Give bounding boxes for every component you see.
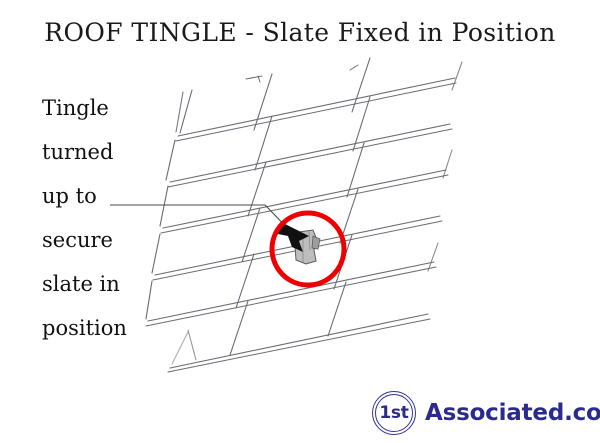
logo-badge-icon: 1st xyxy=(372,391,416,435)
highlight-circle xyxy=(272,213,344,285)
page-title: ROOF TINGLE - Slate Fixed in Position xyxy=(0,18,600,47)
logo-badge-text: 1st xyxy=(372,391,416,435)
tingle-clip xyxy=(295,230,320,264)
caption-line-4: secure xyxy=(42,218,172,262)
logo-wordmark: Associated.co.uk xyxy=(425,400,600,426)
caption-block: Tingle turned up to secure slate in posi… xyxy=(42,86,172,350)
pointer-arrow-icon xyxy=(278,222,309,252)
slate-courses xyxy=(146,58,462,372)
caption-line-1: Tingle xyxy=(42,86,172,130)
caption-line-5: slate in xyxy=(42,262,172,306)
slide-canvas: ROOF TINGLE - Slate Fixed in Position xyxy=(0,0,600,443)
caption-line-2: turned xyxy=(42,130,172,174)
caption-line-6: position xyxy=(42,306,172,350)
brand-logo[interactable]: 1st Associated.co.uk © xyxy=(372,389,594,437)
caption-line-3: up to xyxy=(42,174,172,218)
